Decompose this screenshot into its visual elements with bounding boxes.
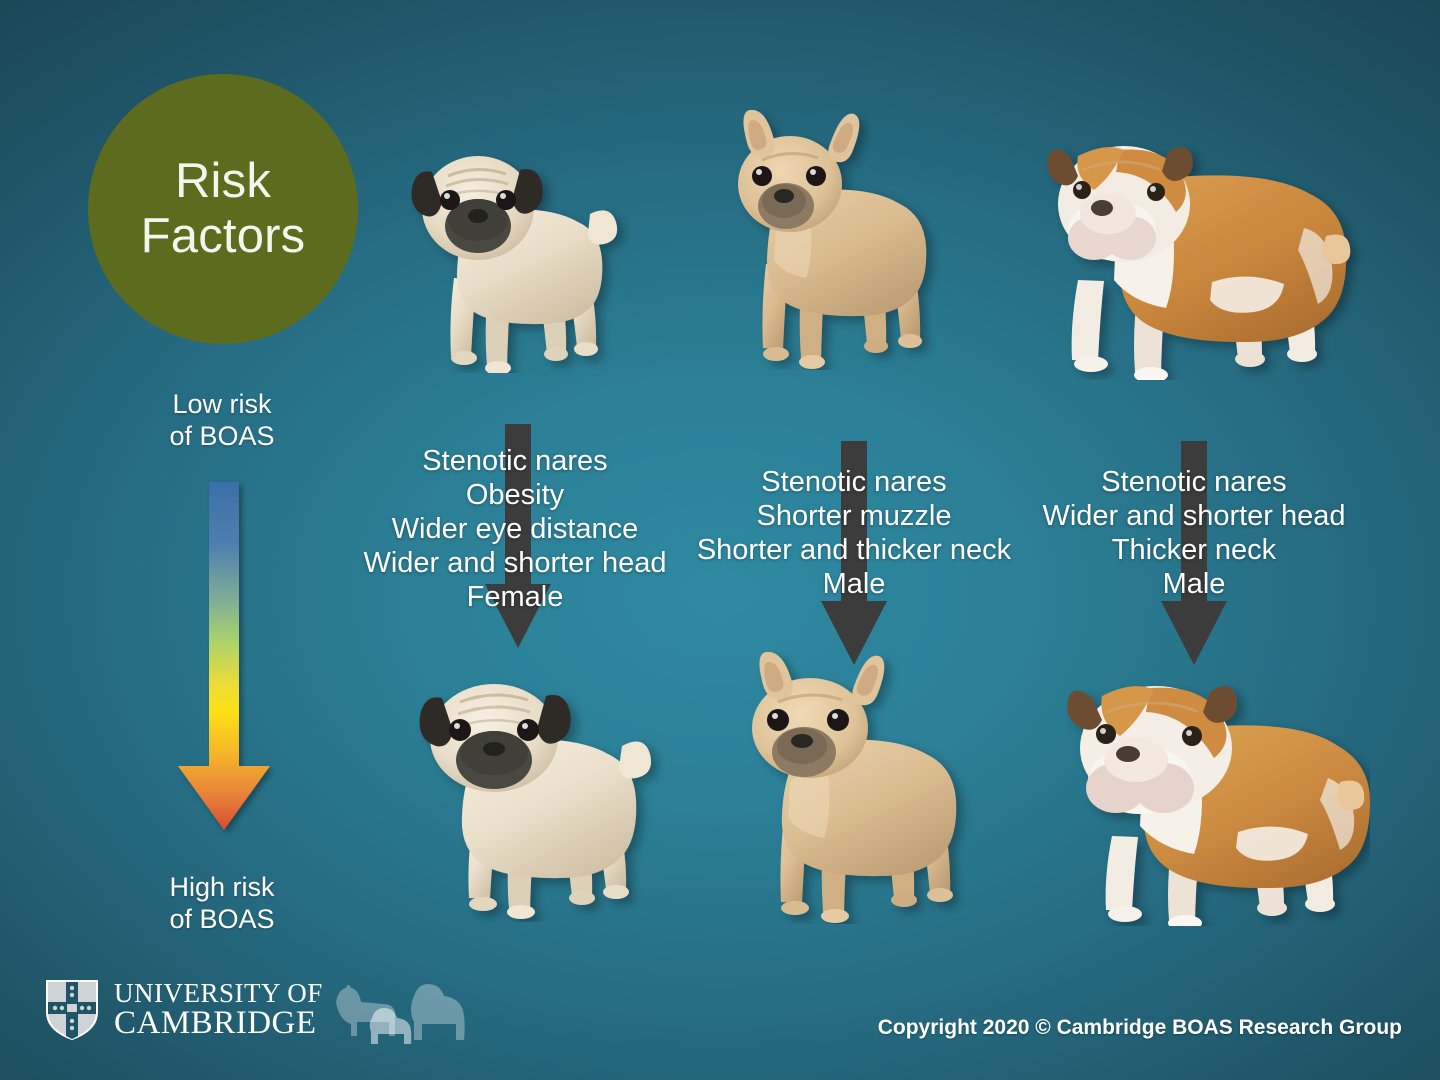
high-risk-label: High risk of BOAS [102,872,342,936]
factor-item: Wider eye distance [355,513,675,547]
factor-item: Obesity [355,479,675,513]
risk-factors-title-circle: Risk Factors [88,74,358,344]
bulldog-high-risk [1040,660,1370,926]
factor-item: Stenotic nares [355,445,675,479]
risk-gradient-arrow [168,480,280,852]
low-risk-label-line2: of BOAS [102,421,342,453]
french-bulldog-high-risk [722,652,990,924]
university-of-cambridge-logo: UNIVERSITY OF CAMBRIDGE [44,978,323,1042]
factor-item: Thicker neck [1034,534,1354,568]
high-risk-label-line2: of BOAS [102,904,342,936]
factor-item: Wider and shorter head [1034,500,1354,534]
factor-item: Male [1034,568,1354,602]
university-line: UNIVERSITY OF [114,980,323,1007]
factor-item: Female [355,581,675,615]
cambridge-crest-icon [44,978,100,1042]
factor-item: Stenotic nares [694,466,1014,500]
low-risk-label-line1: Low risk [102,389,342,421]
cambridge-wordmark: UNIVERSITY OF CAMBRIDGE [114,980,323,1040]
low-risk-label: Low risk of BOAS [102,389,342,453]
french-bulldog-low-risk [706,108,958,370]
factor-list-bulldog: Stenotic nares Wider and shorter head Th… [1034,466,1354,602]
boas-dog-silhouettes-icon [328,982,470,1048]
factor-item: Shorter muzzle [694,500,1014,534]
factor-list-pug: Stenotic nares Obesity Wider eye distanc… [355,445,675,615]
copyright-text: Copyright 2020 © Cambridge BOAS Research… [878,1016,1402,1040]
factor-list-french-bulldog: Stenotic nares Shorter muzzle Shorter an… [694,466,1014,602]
factor-item: Stenotic nares [1034,466,1354,500]
pug-low-risk [392,128,632,373]
factor-item: Wider and shorter head [355,547,675,581]
slide-canvas: Risk Factors Low risk of BOAS [0,0,1440,1080]
bulldog-low-risk [1016,112,1366,380]
factor-item: Shorter and thicker neck [694,534,1014,568]
cambridge-line: CAMBRIDGE [114,1007,323,1040]
high-risk-label-line1: High risk [102,872,342,904]
risk-factors-title-line1: Risk [141,154,306,209]
risk-factors-title-line2: Factors [141,209,306,264]
pug-high-risk [406,660,666,922]
factor-item: Male [694,568,1014,602]
